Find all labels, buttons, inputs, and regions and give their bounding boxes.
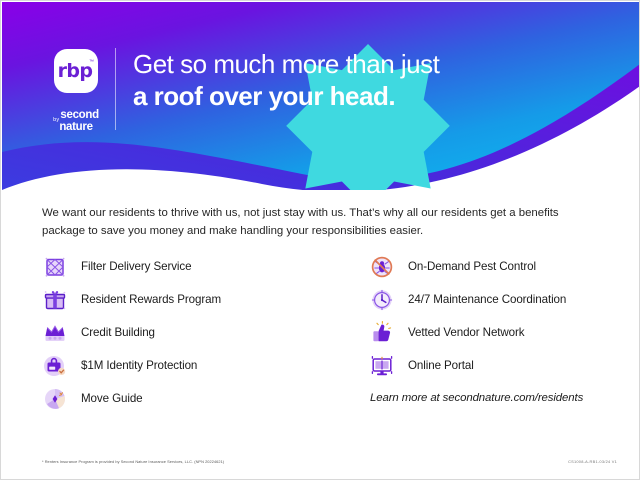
brand-by-text: by	[53, 117, 59, 123]
benefit-label: $1M Identity Protection	[81, 359, 197, 372]
headline-line-2: a roof over your head.	[133, 80, 439, 112]
rbp-wordmark: rbp	[58, 62, 93, 81]
header-banner: rbp ™ bysecond nature Get so much more t…	[2, 2, 640, 190]
benefit-label: Credit Building	[81, 326, 155, 339]
page-title: Get so much more than just a roof over y…	[133, 48, 439, 112]
rbp-logo-tile: rbp ™	[54, 49, 98, 93]
benefits-flyer: rbp ™ bysecond nature Get so much more t…	[0, 0, 640, 480]
benefit-item-vetted-vendor-network: Vetted Vendor Network	[369, 316, 600, 349]
benefits-column-right: On-Demand Pest Control 24/7 Maintenance …	[321, 250, 600, 415]
benefit-label: Vetted Vendor Network	[408, 326, 525, 339]
briefcase-lock-icon	[42, 353, 68, 379]
benefit-label: 24/7 Maintenance Coordination	[408, 293, 566, 306]
benefit-label: Move Guide	[81, 392, 143, 405]
trademark-symbol: ™	[89, 59, 94, 65]
no-pest-icon	[369, 254, 395, 280]
benefit-item-move-guide: Move Guide	[42, 382, 321, 415]
benefit-label: Resident Rewards Program	[81, 293, 221, 306]
benefit-item-filter-delivery-service: Filter Delivery Service	[42, 250, 321, 283]
crown-icon	[42, 320, 68, 346]
benefit-label: Filter Delivery Service	[81, 260, 191, 273]
header-divider	[115, 48, 116, 130]
headline-line-1: Get so much more than just	[133, 48, 439, 80]
legal-footnote: * Renters Insurance Program is provided …	[42, 459, 224, 464]
benefits-columns: Filter Delivery Service Resident	[42, 250, 600, 415]
benefit-label: Online Portal	[408, 359, 474, 372]
document-code: CS1008-A-RB1-03/24 V1	[568, 459, 617, 464]
brand-lockup: rbp ™ bysecond nature	[40, 42, 112, 130]
learn-more-text: Learn more at secondnature.com/residents	[369, 392, 600, 404]
filter-icon	[42, 254, 68, 280]
benefit-item-identity-protection: $1M Identity Protection	[42, 349, 321, 382]
benefit-item-online-portal: Online Portal	[369, 349, 600, 382]
move-guide-icon	[42, 386, 68, 412]
thumbs-up-icon	[369, 320, 395, 346]
benefit-item-pest-control: On-Demand Pest Control	[369, 250, 600, 283]
gift-icon	[42, 287, 68, 313]
benefits-column-left: Filter Delivery Service Resident	[42, 250, 321, 415]
intro-paragraph: We want our residents to thrive with us,…	[42, 204, 598, 240]
monitor-icon	[369, 353, 395, 379]
benefit-label: On-Demand Pest Control	[408, 260, 536, 273]
clock-icon	[369, 287, 395, 313]
benefit-item-resident-rewards-program: Resident Rewards Program	[42, 283, 321, 316]
benefit-item-credit-building: Credit Building	[42, 316, 321, 349]
rbp-logo-mark: rbp ™	[45, 42, 107, 102]
benefit-item-maintenance-coordination: 24/7 Maintenance Coordination	[369, 283, 600, 316]
